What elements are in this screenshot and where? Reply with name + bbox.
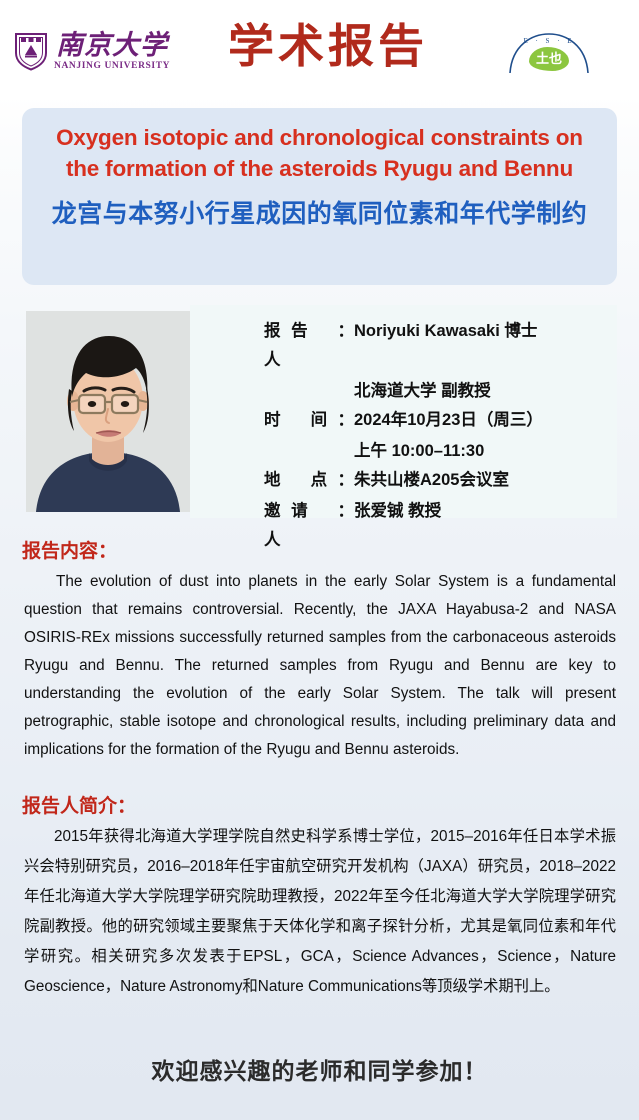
nju-name-cn: 南京大学 xyxy=(56,32,168,59)
ese-glyph-cn: 土也 xyxy=(529,48,569,70)
ese-initials: E · S · E xyxy=(504,37,594,45)
info-sub-time-range: 上午 10:00–11:30 xyxy=(354,437,624,466)
title-english: Oxygen isotopic and chronological constr… xyxy=(40,122,599,184)
bio-text: 2015年获得北海道大学理学院自然史科学系博士学位，2015–2016年任日本学… xyxy=(24,822,616,1002)
info-sub-speaker-affiliation: 北海道大学 副教授 xyxy=(354,377,624,406)
seminar-poster: 南京大学 NANJING UNIVERSITY 学术报告 E · S · E 土… xyxy=(0,0,639,1120)
ese-school-logo: E · S · E 土也 xyxy=(504,27,594,75)
info-row-speaker: 报 告 人 ： Noriyuki Kawasaki 博士 xyxy=(264,317,624,375)
info-row-host: 邀 请 人 ： 张爱铖 教授 xyxy=(264,497,624,555)
info-label-time: 时 间 ： xyxy=(264,406,354,435)
poster-header: 南京大学 NANJING UNIVERSITY 学术报告 E · S · E 土… xyxy=(0,0,639,96)
banner-title: 学术报告 xyxy=(228,18,428,76)
info-label-colon: ： xyxy=(338,317,355,375)
info-value-speaker: Noriyuki Kawasaki 博士 xyxy=(354,317,624,346)
nju-wordmark: 南京大学 NANJING UNIVERSITY xyxy=(54,32,170,71)
speaker-portrait-illustration xyxy=(26,311,190,512)
nanjing-university-logo: 南京大学 NANJING UNIVERSITY xyxy=(14,22,190,80)
info-label-colon: ： xyxy=(338,466,355,495)
info-label-text: 邀 请 人 xyxy=(264,497,338,555)
info-value-date: 2024年10月23日（周三） xyxy=(354,406,624,435)
nju-name-en: NANJING UNIVERSITY xyxy=(54,61,170,71)
info-label-colon: ： xyxy=(338,497,355,555)
abstract-heading: 报告内容： xyxy=(22,536,117,563)
info-label-speaker: 报 告 人 ： xyxy=(264,317,354,375)
info-row-location: 地 点 ： 朱共山楼A205会议室 xyxy=(264,466,624,495)
nanjing-university-shield-icon xyxy=(14,31,48,71)
info-row-time: 时 间 ： 2024年10月23日（周三） xyxy=(264,406,624,435)
title-card: Oxygen isotopic and chronological constr… xyxy=(22,108,617,285)
shield-svg xyxy=(14,31,48,71)
info-label-host: 邀 请 人 ： xyxy=(264,497,354,555)
closing-invitation: 欢迎感兴趣的老师和同学参加！ xyxy=(0,1052,639,1086)
info-label-location: 地 点 ： xyxy=(264,466,354,495)
info-value-host: 张爱铖 教授 xyxy=(354,497,624,526)
speaker-info-rows: 报 告 人 ： Noriyuki Kawasaki 博士 北海道大学 副教授 时… xyxy=(264,317,624,557)
abstract-text: The evolution of dust into planets in th… xyxy=(24,568,616,764)
info-value-location: 朱共山楼A205会议室 xyxy=(354,466,624,495)
info-label-text: 报 告 人 xyxy=(264,317,338,375)
bio-heading: 报告人简介： xyxy=(22,791,136,818)
speaker-photo xyxy=(26,311,190,512)
info-label-text: 时 间 xyxy=(264,406,330,435)
info-label-colon: ： xyxy=(338,406,355,435)
info-label-text: 地 点 xyxy=(264,466,330,495)
title-chinese: 龙宫与本努小行星成因的氧同位素和年代学制约 xyxy=(40,197,599,231)
